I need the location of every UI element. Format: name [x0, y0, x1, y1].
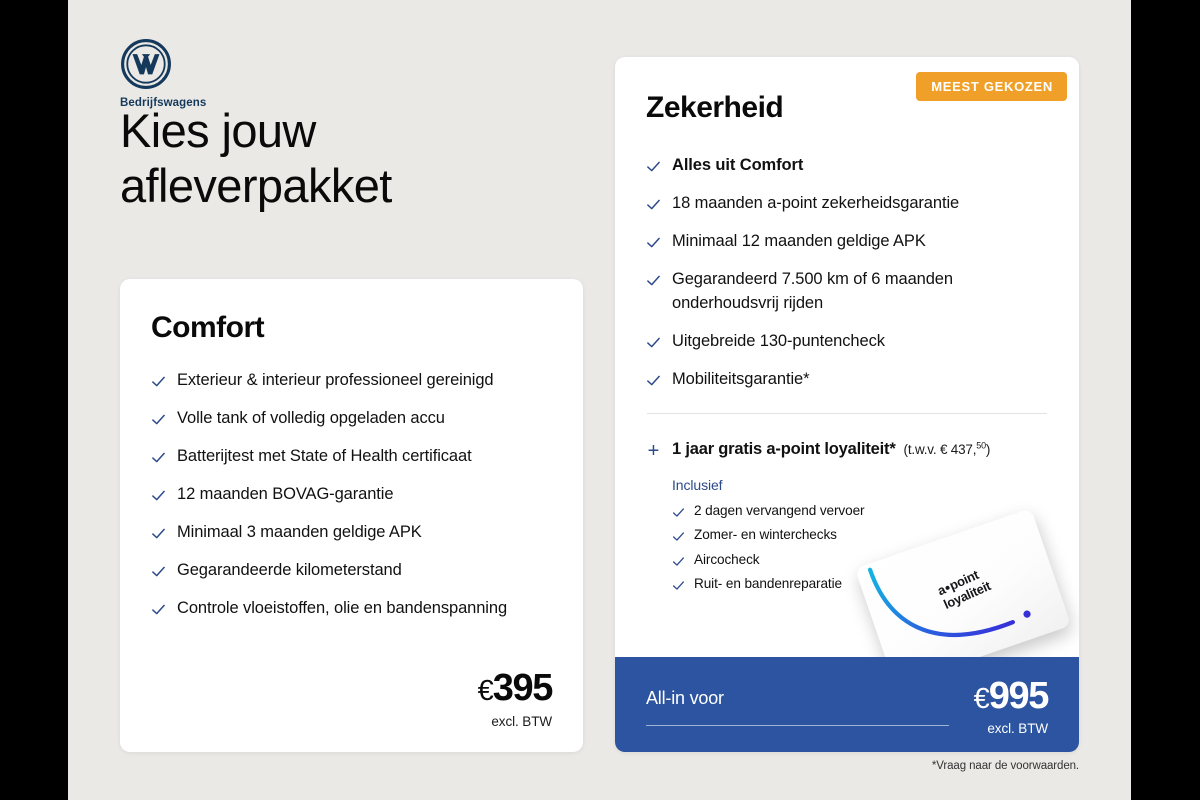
all-in-price-note: excl. BTW	[974, 721, 1048, 736]
list-item: Minimaal 3 maanden geldige APK	[151, 521, 546, 545]
check-icon	[646, 335, 661, 350]
volkswagen-logo-icon	[120, 38, 206, 90]
check-icon	[646, 197, 661, 212]
check-icon	[646, 273, 661, 288]
loyalty-addon-worth: (t.w.v. € 437,50)	[904, 442, 991, 457]
check-icon	[646, 235, 661, 250]
comfort-feature-label: Exterieur & interieur professioneel gere…	[177, 369, 494, 393]
loyalty-item-label: Zomer- en winterchecks	[694, 526, 837, 544]
list-item: Gegarandeerde kilometerstand	[151, 559, 546, 583]
loyalty-item-label: 2 dagen vervangend vervoer	[694, 502, 864, 520]
comfort-price-amount: 395	[493, 667, 552, 709]
loyalty-addon-title: 1 jaar gratis a-point loyaliteit*	[672, 440, 896, 458]
content-area: Bedrijfswagens Kies jouw afleverpakket C…	[68, 0, 1131, 800]
loyalty-addon-header: + 1 jaar gratis a-point loyaliteit*(t.w.…	[646, 440, 1056, 459]
comfort-price-block: €395 excl. BTW	[478, 669, 552, 729]
check-icon	[151, 564, 166, 579]
zekerheid-feature-list: Alles uit Comfort18 maanden a-point zeke…	[646, 154, 1046, 391]
loyalty-worth-prefix: (t.w.v. € 437,	[904, 442, 977, 457]
check-icon	[151, 450, 166, 465]
list-item: Volle tank of volledig opgeladen accu	[151, 407, 546, 431]
loyalty-worth-suffix: )	[986, 442, 990, 457]
comfort-feature-list: Exterieur & interieur professioneel gere…	[151, 369, 546, 620]
loyalty-item-label: Ruit- en bandenreparatie	[694, 575, 842, 593]
check-icon	[151, 488, 166, 503]
footnote-text: *Vraag naar de voorwaarden.	[615, 760, 1079, 772]
package-card-zekerheid[interactable]: MEEST GEKOZEN Zekerheid Alles uit Comfor…	[615, 57, 1079, 752]
check-icon	[151, 374, 166, 389]
poster-canvas: Bedrijfswagens Kies jouw afleverpakket C…	[0, 0, 1200, 800]
all-in-rule	[646, 725, 949, 726]
letterbox-bar-left	[0, 0, 68, 800]
list-item: Exterieur & interieur professioneel gere…	[151, 369, 546, 393]
comfort-card-title: Comfort	[151, 311, 264, 345]
comfort-feature-label: Gegarandeerde kilometerstand	[177, 559, 402, 583]
list-item: 18 maanden a-point zekerheidsgarantie	[646, 192, 1046, 216]
list-item: 2 dagen vervangend vervoer	[672, 502, 1056, 520]
status-badge-most-chosen: MEEST GEKOZEN	[916, 72, 1067, 101]
comfort-price-note: excl. BTW	[478, 714, 552, 729]
zekerheid-card-title: Zekerheid	[646, 91, 783, 125]
comfort-feature-label: Controle vloeistoffen, olie en bandenspa…	[177, 597, 507, 621]
list-item: Mobiliteitsgarantie*	[646, 368, 1046, 392]
check-icon	[672, 530, 685, 543]
loyalty-item-label: Aircocheck	[694, 551, 759, 569]
zekerheid-feature-label: 18 maanden a-point zekerheidsgarantie	[672, 192, 959, 216]
list-item: 12 maanden BOVAG-garantie	[151, 483, 546, 507]
check-icon	[151, 526, 166, 541]
check-icon	[151, 602, 166, 617]
zekerheid-feature-label: Gegarandeerd 7.500 km of 6 maanden onder…	[672, 268, 1046, 316]
brand-header: Bedrijfswagens	[120, 38, 206, 109]
comfort-feature-label: Minimaal 3 maanden geldige APK	[177, 521, 422, 545]
list-item: Gegarandeerd 7.500 km of 6 maanden onder…	[646, 268, 1046, 316]
all-in-price-block: €995 excl. BTW	[974, 677, 1048, 736]
list-item: Minimaal 12 maanden geldige APK	[646, 230, 1046, 254]
letterbox-bar-right	[1131, 0, 1200, 800]
comfort-price-currency: €	[478, 675, 493, 707]
all-in-price-footer: All-in voor €995 excl. BTW	[615, 657, 1079, 752]
check-icon	[646, 159, 661, 174]
list-item: Uitgebreide 130-puntencheck	[646, 330, 1046, 354]
check-icon	[672, 506, 685, 519]
check-icon	[646, 373, 661, 388]
check-icon	[672, 555, 685, 568]
inclusief-label: Inclusief	[672, 477, 1056, 493]
check-icon	[672, 579, 685, 592]
comfort-price: €395	[478, 669, 552, 707]
comfort-feature-label: 12 maanden BOVAG-garantie	[177, 483, 393, 507]
all-in-price: €995	[974, 677, 1048, 715]
list-item: Controle vloeistoffen, olie en bandenspa…	[151, 597, 546, 621]
all-in-label: All-in voor	[646, 688, 724, 709]
all-in-price-amount: 995	[989, 675, 1048, 717]
package-card-comfort[interactable]: Comfort Exterieur & interieur profession…	[120, 279, 583, 752]
all-in-price-currency: €	[974, 683, 989, 715]
zekerheid-feature-label: Uitgebreide 130-puntencheck	[672, 330, 885, 354]
comfort-feature-label: Batterijtest met State of Health certifi…	[177, 445, 472, 469]
comfort-feature-label: Volle tank of volledig opgeladen accu	[177, 407, 445, 431]
page-title: Kies jouw afleverpakket	[120, 104, 392, 213]
loyalty-worth-cents: 50	[976, 441, 986, 451]
zekerheid-feature-label: Alles uit Comfort	[672, 154, 803, 178]
check-icon	[151, 412, 166, 427]
list-item: Alles uit Comfort	[646, 154, 1046, 178]
plus-icon: +	[646, 443, 661, 459]
zekerheid-feature-label: Mobiliteitsgarantie*	[672, 368, 809, 392]
zekerheid-feature-label: Minimaal 12 maanden geldige APK	[672, 230, 926, 254]
section-divider	[647, 413, 1047, 414]
list-item: Batterijtest met State of Health certifi…	[151, 445, 546, 469]
